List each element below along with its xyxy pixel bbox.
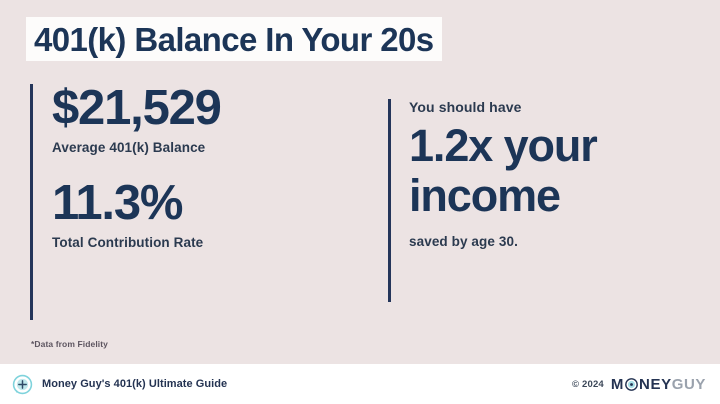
stat-value: 11.3% [52, 179, 360, 229]
stat-value: $21,529 [52, 84, 360, 134]
right-recommendation-column: You should have 1.2x your income saved b… [388, 99, 698, 302]
stat-label: Total Contribution Rate [52, 235, 360, 250]
recommendation-tail: saved by age 30. [409, 234, 698, 249]
moneyguy-logo: M NEY GUY [611, 377, 706, 392]
copyright-text: © 2024 [572, 379, 604, 390]
recommendation-lead: You should have [409, 99, 698, 115]
source-note: *Data from Fidelity [31, 339, 108, 349]
page-title: 401(k) Balance In Your 20s [34, 23, 434, 56]
brand-text-guy: GUY [672, 377, 706, 392]
stat-label: Average 401(k) Balance [52, 140, 360, 155]
plus-circle-icon [12, 374, 33, 395]
stat-contribution-rate: 11.3% Total Contribution Rate [52, 179, 360, 250]
recommendation-headline-line2: income [409, 171, 698, 221]
stat-average-balance: $21,529 Average 401(k) Balance [52, 84, 360, 155]
brand-text-m: M [611, 377, 624, 392]
infographic-canvas: 401(k) Balance In Your 20s $21,529 Avera… [0, 0, 720, 404]
page-title-highlight: 401(k) Balance In Your 20s [26, 17, 442, 61]
recommendation-headline-line1: 1.2x your [409, 121, 698, 171]
moneyguy-o-logo-icon [625, 378, 638, 391]
footer-guide-title: Money Guy's 401(k) Ultimate Guide [42, 378, 227, 390]
left-stats-column: $21,529 Average 401(k) Balance 11.3% Tot… [30, 84, 360, 320]
footer-bar: Money Guy's 401(k) Ultimate Guide © 2024… [0, 364, 720, 404]
footer-left-group: Money Guy's 401(k) Ultimate Guide [12, 374, 227, 395]
footer-right-group: © 2024 M NEY GUY [572, 377, 706, 392]
brand-text-ney: NEY [639, 377, 672, 392]
